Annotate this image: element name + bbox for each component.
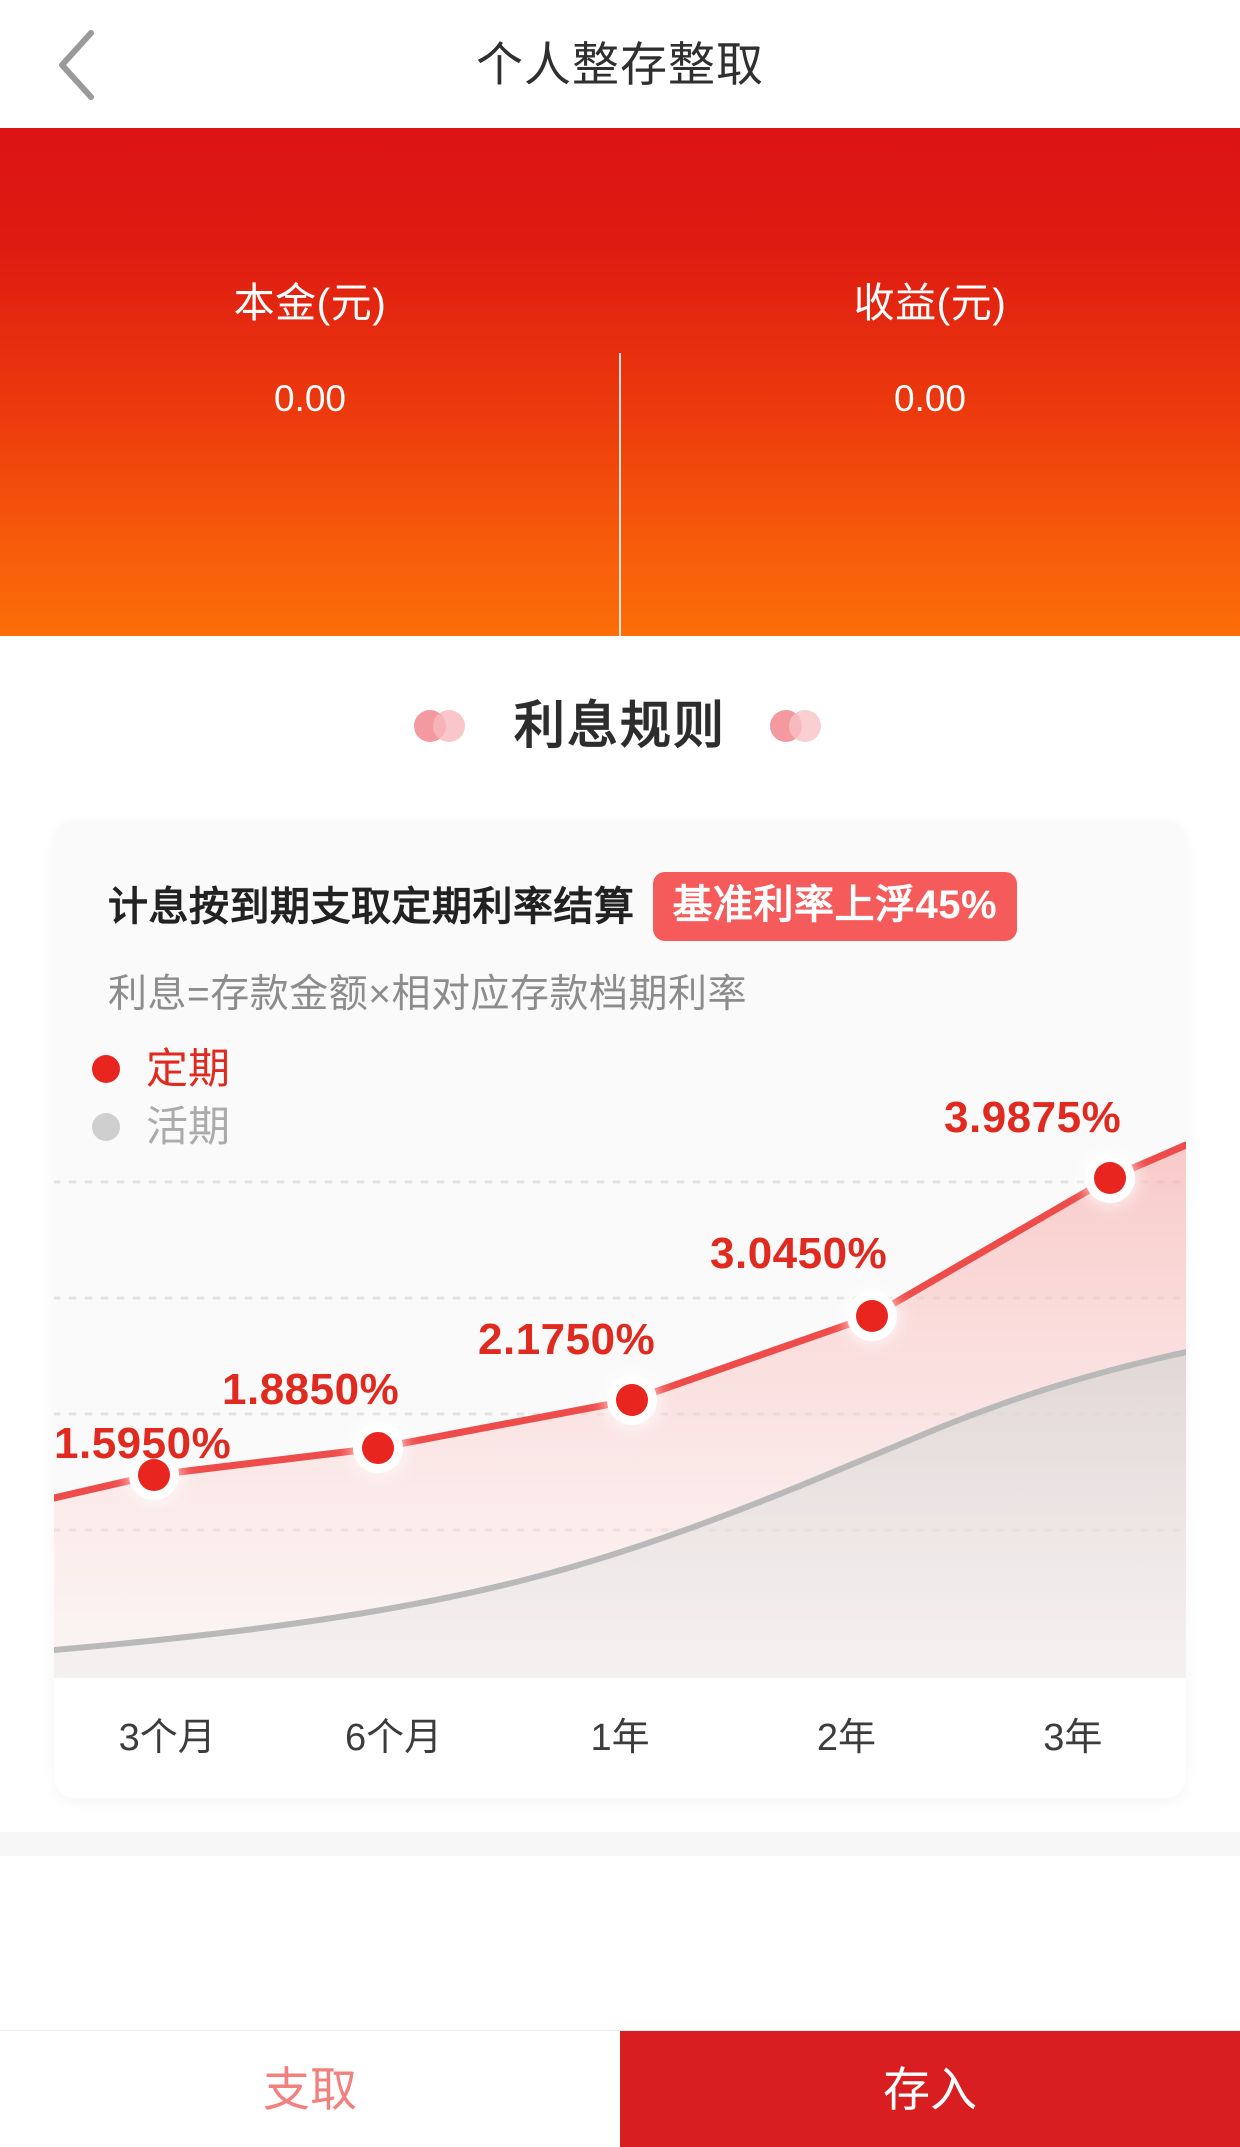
content-filler bbox=[0, 1856, 1240, 2030]
back-button[interactable] bbox=[34, 22, 120, 108]
section-separator bbox=[0, 1832, 1240, 1856]
chart-x-axis: 3个月 6个月 1年 2年 3年 bbox=[54, 1678, 1186, 1798]
legend-dot-fixed-icon bbox=[92, 1055, 120, 1083]
legend-label-fixed: 定期 bbox=[146, 1048, 230, 1090]
interest-formula: 利息=存款金额×相对应存款档期利率 bbox=[108, 975, 1186, 1014]
x-tick-3y: 3年 bbox=[960, 1719, 1186, 1757]
banner-divider bbox=[619, 353, 621, 648]
principal-label: 本金(元) bbox=[234, 283, 387, 324]
page-header: 个人整存整取 bbox=[0, 0, 1240, 128]
rate-chart: 定期 活期 1.5950% 1.8850% 2.1750% 3.0450% 3.… bbox=[54, 1050, 1186, 1678]
principal-block: 本金(元) 0.00 bbox=[0, 128, 620, 636]
data-label-6m: 1.8850% bbox=[222, 1368, 399, 1412]
legend-item-demand: 活期 bbox=[92, 1098, 230, 1156]
earnings-value: 0.00 bbox=[894, 380, 966, 417]
deposit-button[interactable]: 存入 bbox=[620, 2031, 1240, 2147]
data-label-2y: 3.0450% bbox=[710, 1232, 887, 1276]
data-label-3m: 1.5950% bbox=[54, 1422, 231, 1466]
summary-banner: 本金(元) 0.00 收益(元) 0.00 bbox=[0, 128, 1240, 636]
chart-legend: 定期 活期 bbox=[92, 1040, 230, 1156]
rule-headline-row: 计息按到期支取定期利率结算 基准利率上浮45% bbox=[54, 820, 1186, 941]
page-title: 个人整存整取 bbox=[476, 41, 764, 88]
x-tick-6m: 6个月 bbox=[280, 1719, 506, 1757]
legend-label-demand: 活期 bbox=[146, 1106, 230, 1148]
section-title: 利息规则 bbox=[514, 700, 726, 751]
withdraw-button[interactable]: 支取 bbox=[0, 2031, 620, 2147]
app-screen: 个人整存整取 本金(元) 0.00 收益(元) 0.00 利息规则 计息按到期支… bbox=[0, 0, 1240, 2147]
decorative-dots-right-icon bbox=[770, 707, 826, 745]
data-label-3y: 3.9875% bbox=[944, 1096, 1121, 1140]
x-tick-1y: 1年 bbox=[507, 1719, 733, 1757]
principal-value: 0.00 bbox=[274, 380, 346, 417]
interest-rule-card: 计息按到期支取定期利率结算 基准利率上浮45% 利息=存款金额×相对应存款档期利… bbox=[54, 820, 1186, 1798]
earnings-block: 收益(元) 0.00 bbox=[620, 128, 1240, 636]
bottom-action-bar: 支取 存入 bbox=[0, 2030, 1240, 2147]
legend-item-fixed: 定期 bbox=[92, 1040, 230, 1098]
earnings-label: 收益(元) bbox=[854, 283, 1007, 324]
rate-uplift-badge: 基准利率上浮45% bbox=[653, 872, 1018, 941]
chevron-left-icon bbox=[54, 28, 100, 102]
data-label-1y: 2.1750% bbox=[478, 1318, 655, 1362]
decorative-dots-left-icon bbox=[414, 707, 470, 745]
x-tick-2y: 2年 bbox=[733, 1719, 959, 1757]
section-title-row: 利息规则 bbox=[0, 700, 1240, 751]
legend-dot-demand-icon bbox=[92, 1113, 120, 1141]
rule-text: 计息按到期支取定期利率结算 bbox=[108, 887, 635, 927]
x-tick-3m: 3个月 bbox=[54, 1719, 280, 1757]
